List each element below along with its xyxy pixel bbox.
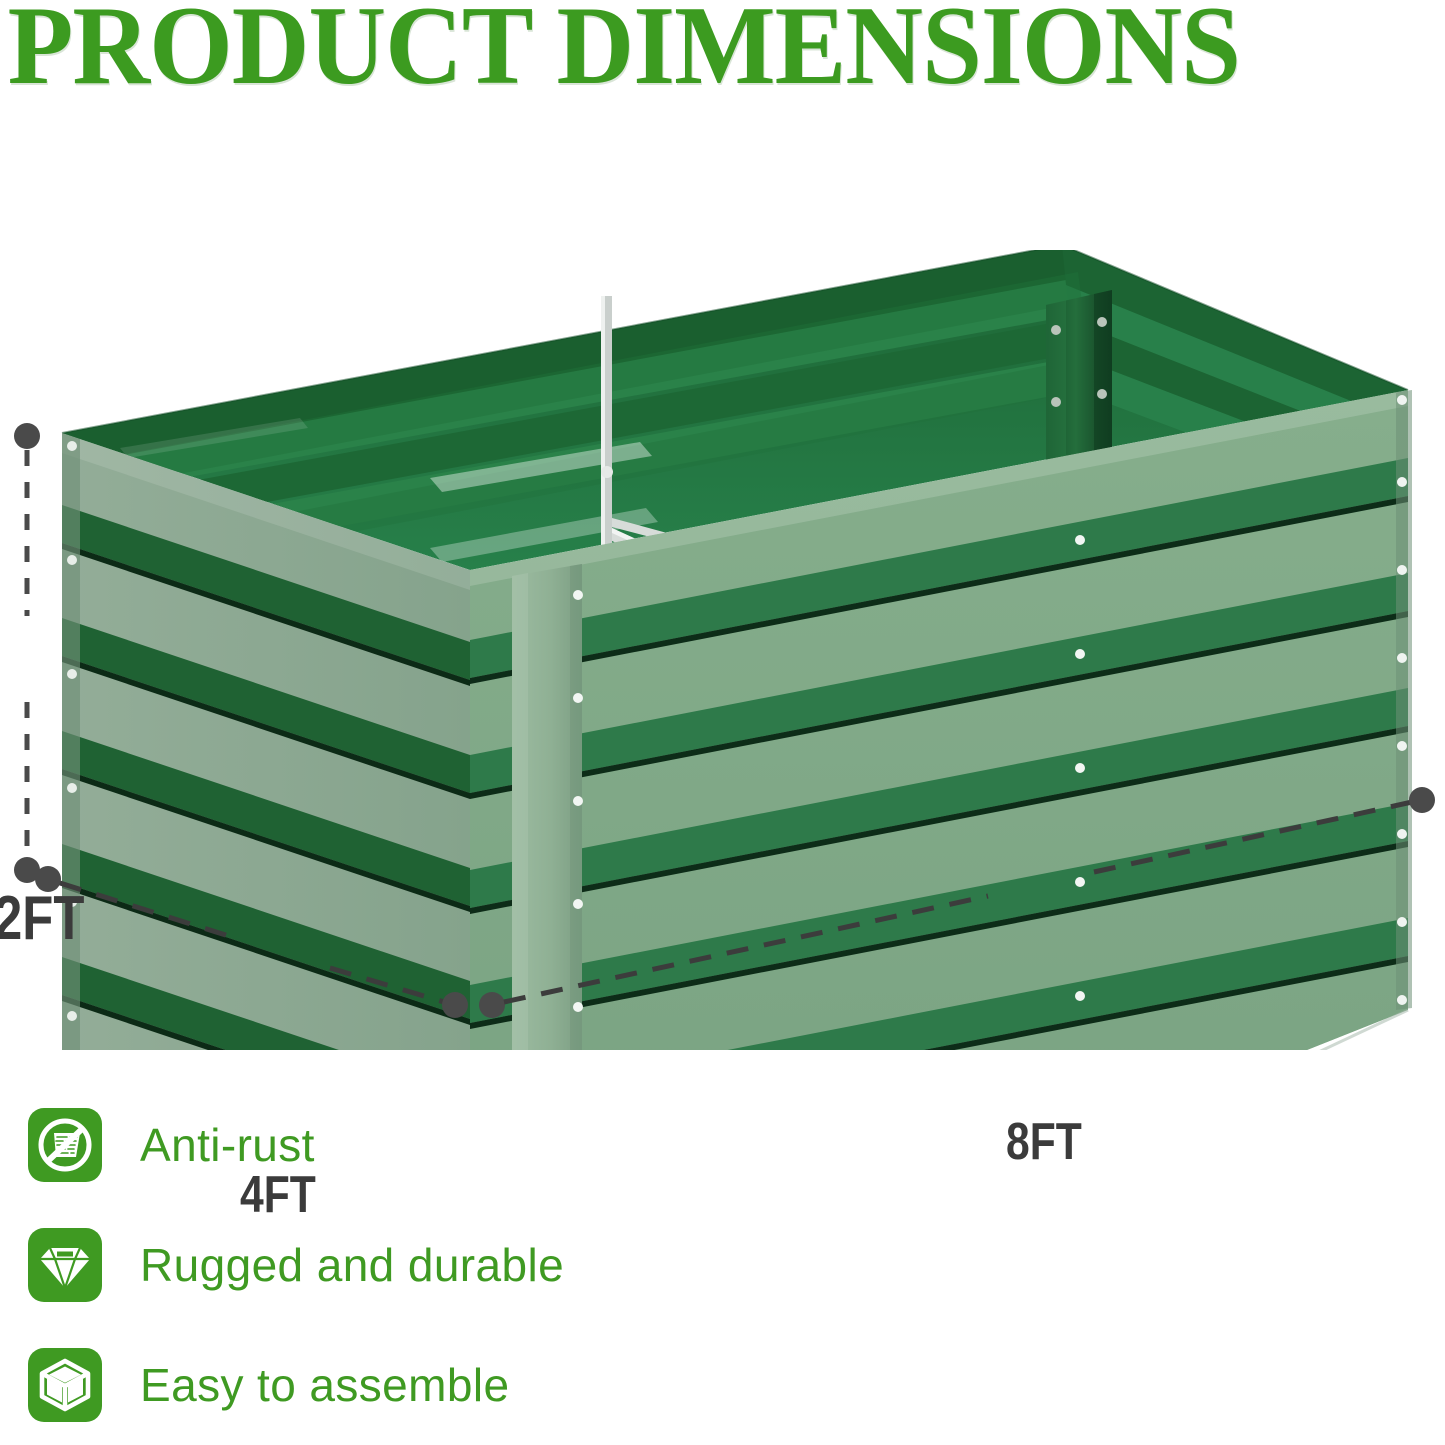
front-panel-right-edge: [1396, 390, 1412, 1010]
page-title: PRODUCT DIMENSIONS: [0, 0, 1352, 102]
feature-list: Anti-rust Rugged and durable: [28, 1085, 928, 1445]
product-illustration: [0, 250, 1445, 1050]
left-panel-edge: [62, 433, 80, 1050]
cube-box-icon: [28, 1348, 102, 1422]
dimension-label-length: 8FT: [1006, 1112, 1082, 1172]
feature-item-rugged: Rugged and durable: [28, 1205, 928, 1325]
front-corner-post: [512, 564, 583, 1050]
feature-label: Easy to assemble: [140, 1362, 509, 1408]
feature-label: Anti-rust: [140, 1122, 315, 1168]
diamond-gem-icon: [28, 1228, 102, 1302]
feature-label: Rugged and durable: [140, 1242, 564, 1288]
no-rust-icon: [28, 1108, 102, 1182]
feature-item-easy-assemble: Easy to assemble: [28, 1325, 928, 1445]
feature-item-anti-rust: Anti-rust: [28, 1085, 928, 1205]
